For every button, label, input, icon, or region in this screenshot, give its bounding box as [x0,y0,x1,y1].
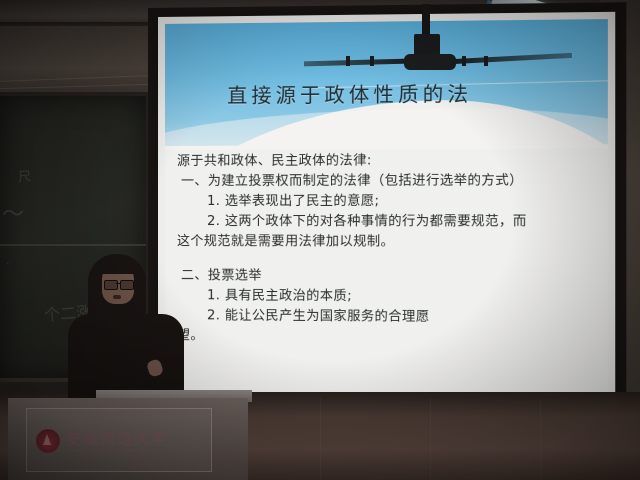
presenter-fringe [98,258,138,274]
slide-line-spacer [177,252,606,267]
slide-body-line: 这个规范就是需要用法律加以规制。 [177,232,606,253]
slide-body-line: 2. 这两个政体下的对各种事情的行为都需要规范，而 [177,212,606,233]
wall-seam [430,398,431,480]
projection-screen: 直接源于政体性质的法 源于共和政体、民主政体的法律:一、为建立投票权而制定的法律… [158,12,615,412]
ceiling-fan-bracket [462,56,466,66]
slide-title: 直接源于政体性质的法 [227,78,472,109]
blackboard-rail [0,244,146,246]
presentation-slide: 直接源于政体性质的法 源于共和政体、民主政体的法律:一、为建立投票权而制定的法律… [165,19,608,405]
glasses-icon [104,280,118,290]
slide-body-line: 1. 选举表现出了民主的意愿; [177,191,606,212]
slide-body-line: 1. 具有民主政治的本质; [177,286,606,308]
slide-body-line: 一、为建立投票权而制定的法律（包括进行选举的方式） [177,171,606,192]
glasses-icon [120,280,134,290]
ceiling-fan-bracket [370,56,374,66]
university-name: 安徽师范大学 [66,428,168,449]
wall-seam [320,398,321,480]
slide-body-line: 望。 [177,326,606,349]
slide-body: 源于共和政体、民主政体的法律:一、为建立投票权而制定的法律（包括进行选举的方式）… [177,150,606,349]
university-name-en: ANHUI NORMAL UNIVERSITY [68,448,156,453]
slide-body-line: 2. 能让公民产生为国家服务的合理愿 [177,306,606,329]
ceiling-fan-motor [414,34,440,56]
ceiling-fan-hub [404,54,456,70]
ceiling-fan-bracket [346,56,350,66]
slide-body-line: 二、投票选举 [177,266,606,288]
presenter-mouth [113,295,121,299]
wall-seam [540,398,541,480]
lecture-hall-photo: 尺 ～ 个二涨 · 直接源于政体性质的法 源于共和政体、民主政体的法律:一、为建… [0,0,640,480]
ceiling-fan-rod [422,4,430,38]
glasses-bridge [116,283,121,284]
slide-body-line: 源于共和政体、民主政体的法律: [177,150,606,172]
ceiling-fan-bracket [484,56,488,66]
